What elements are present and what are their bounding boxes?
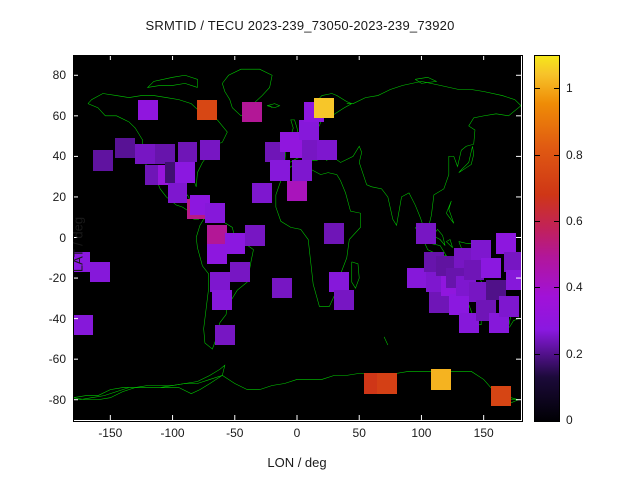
chart-root: SRMTID / TECU 2023-239_73050-2023-239_73… — [0, 0, 640, 480]
y-tick-label: 40 — [53, 149, 66, 163]
colorbar-tick-label: 0.2 — [566, 347, 583, 361]
y-tick-label: -40 — [49, 312, 66, 326]
y-tick-label: -80 — [49, 393, 66, 407]
colorbar-tick-mark — [535, 221, 540, 222]
x-tick-label: -100 — [161, 426, 185, 440]
x-tick-label: 50 — [353, 426, 366, 440]
colorbar-tick-label: 0.6 — [566, 214, 583, 228]
x-axis-label: LON / deg — [73, 455, 521, 470]
colorbar-tick-mark — [554, 221, 559, 222]
colorbar-tick-mark — [554, 155, 559, 156]
map-plot-area — [73, 55, 521, 420]
y-tick-label: -60 — [49, 352, 66, 366]
y-tick-label: 0 — [59, 231, 66, 245]
inner-tick-layer — [73, 55, 521, 420]
x-tick-label: -50 — [226, 426, 243, 440]
colorbar-tick-mark — [535, 287, 540, 288]
y-tick-label: 60 — [53, 109, 66, 123]
colorbar-tick-mark — [535, 88, 540, 89]
colorbar — [534, 55, 560, 422]
y-tick-label: 80 — [53, 68, 66, 82]
colorbar-tick-mark — [554, 88, 559, 89]
chart-title: SRMTID / TECU 2023-239_73050-2023-239_73… — [0, 18, 600, 33]
y-axis-label: LAT / deg — [71, 165, 86, 325]
x-tick-label: -150 — [98, 426, 122, 440]
colorbar-tick-label: 0 — [566, 413, 573, 427]
colorbar-tick-mark — [554, 354, 559, 355]
y-tick-label: -20 — [49, 271, 66, 285]
x-tick-label: 0 — [294, 426, 301, 440]
colorbar-tick-label: 1 — [566, 81, 573, 95]
x-tick-label: 150 — [474, 426, 494, 440]
colorbar-tick-mark — [554, 287, 559, 288]
colorbar-tick-mark — [535, 155, 540, 156]
y-tick-label: 20 — [53, 190, 66, 204]
x-tick-label: 100 — [411, 426, 431, 440]
colorbar-tick-mark — [535, 354, 540, 355]
colorbar-tick-label: 0.8 — [566, 148, 583, 162]
colorbar-tick-label: 0.4 — [566, 280, 583, 294]
